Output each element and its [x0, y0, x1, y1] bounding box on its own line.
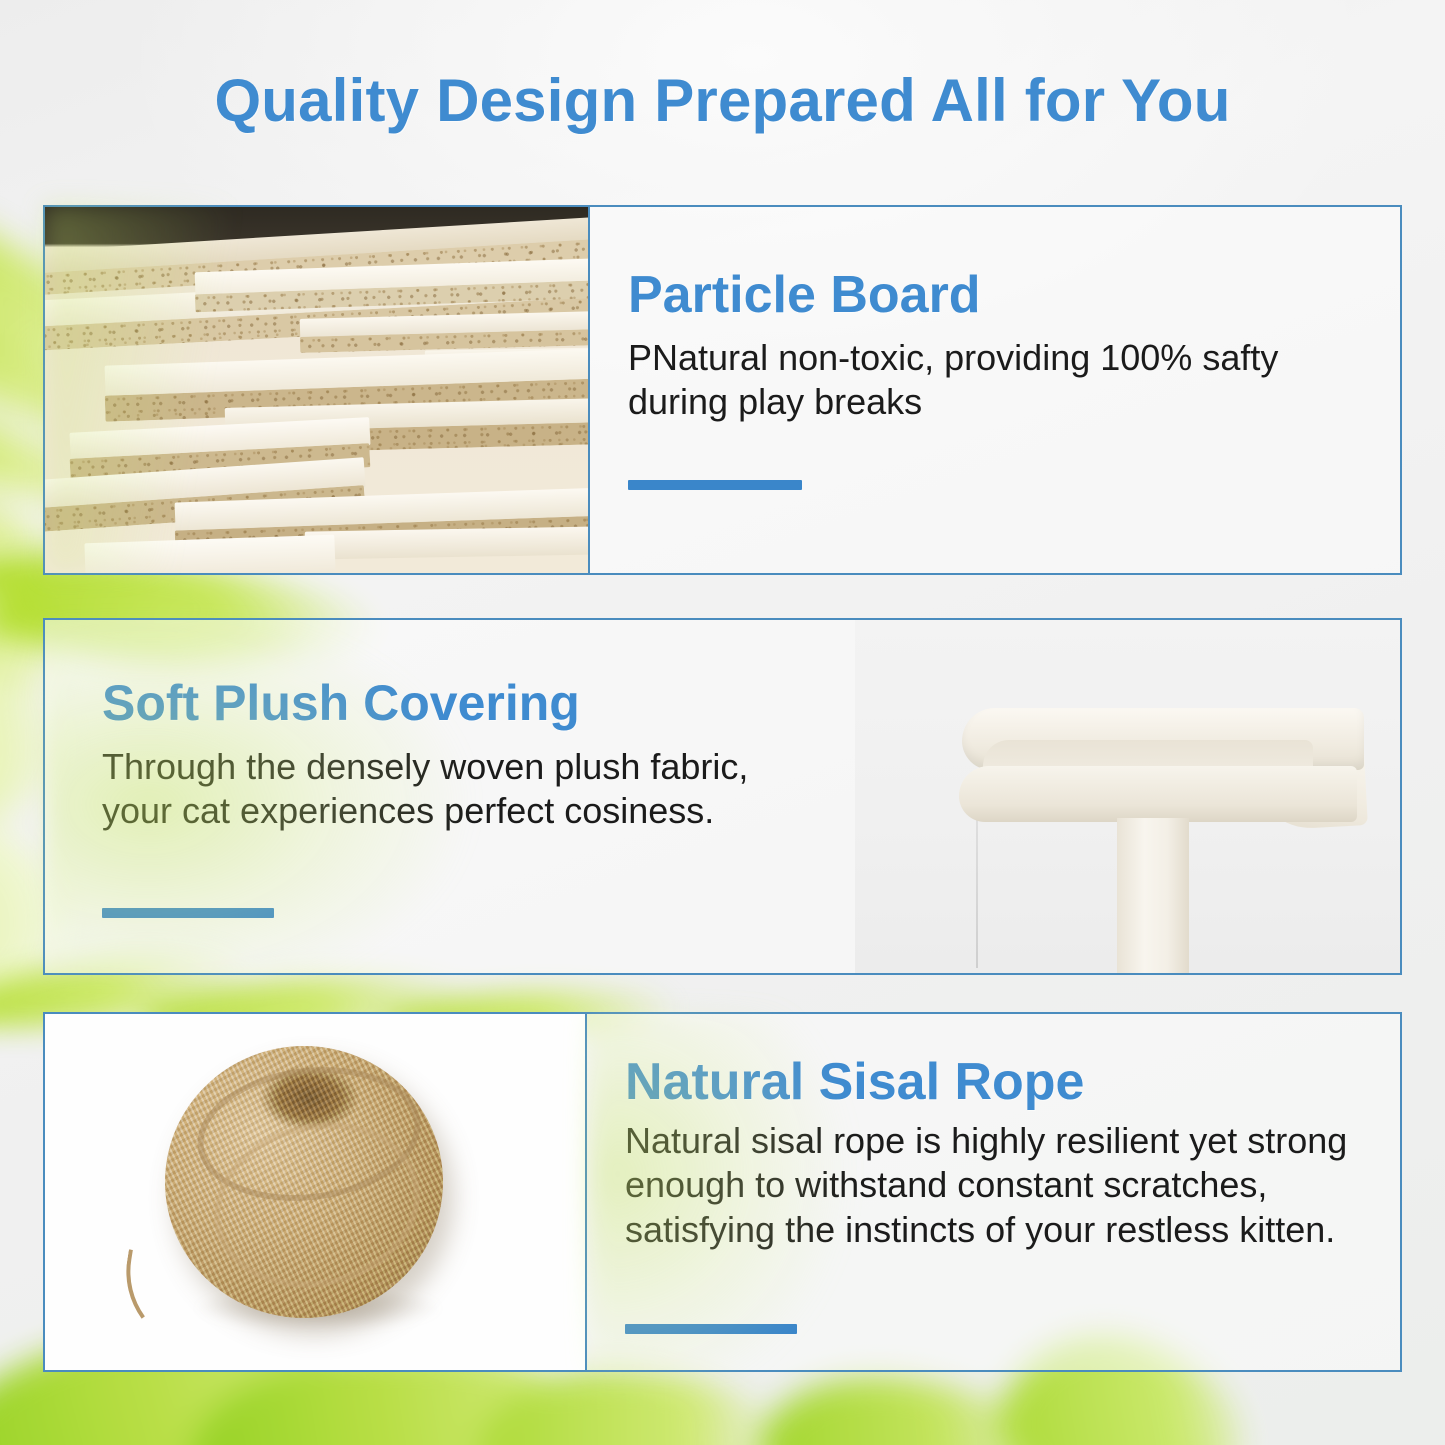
accent-underline — [628, 480, 802, 490]
particle-board-image — [45, 207, 588, 573]
plush-perch-image — [855, 620, 1400, 973]
sisal-rope-text: Natural Sisal Rope Natural sisal rope is… — [585, 1014, 1400, 1370]
sisal-rope-image — [45, 1014, 585, 1370]
card-heading: Particle Board — [628, 269, 1360, 322]
card-description: Natural sisal rope is highly resilient y… — [625, 1119, 1364, 1252]
feature-card-natural-sisal-rope: Natural Sisal Rope Natural sisal rope is… — [43, 1012, 1402, 1372]
feature-card-particle-board: Particle Board PNatural non-toxic, provi… — [43, 205, 1402, 575]
soft-plush-text: Soft Plush Covering Through the densely … — [45, 620, 855, 973]
feature-card-soft-plush-covering: Soft Plush Covering Through the densely … — [43, 618, 1402, 975]
particle-board-text: Particle Board PNatural non-toxic, provi… — [588, 207, 1400, 573]
card-description: PNatural non-toxic, providing 100% safty… — [628, 336, 1328, 425]
infographic-canvas: Quality Design Prepared All for You — [0, 0, 1445, 1445]
card-heading: Natural Sisal Rope — [625, 1056, 1364, 1109]
accent-underline — [102, 908, 274, 918]
card-heading: Soft Plush Covering — [102, 678, 821, 729]
card-description: Through the densely woven plush fabric, … — [102, 745, 792, 834]
accent-underline — [625, 1324, 797, 1334]
page-title: Quality Design Prepared All for You — [0, 66, 1445, 135]
